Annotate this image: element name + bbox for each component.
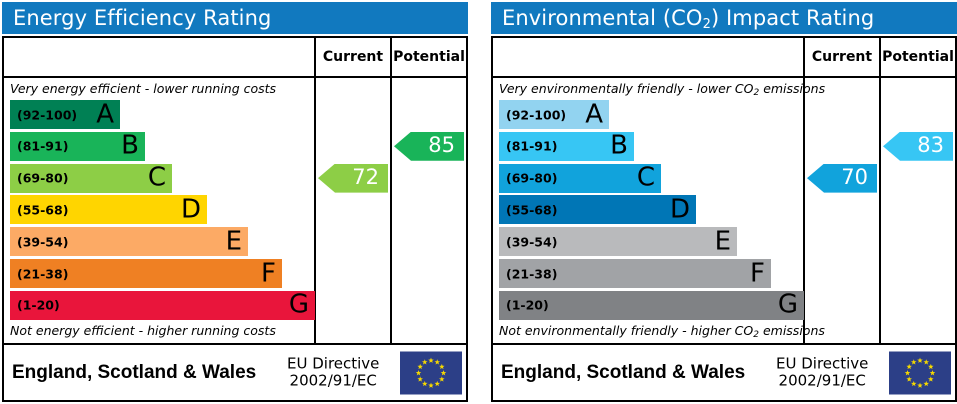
- co2-potential-value: 83: [917, 135, 944, 156]
- co2-current-value: 70: [841, 167, 868, 188]
- co2-band-range-a: (92-100): [506, 107, 566, 122]
- co2-caption-top-subscript: 2: [753, 88, 759, 98]
- eu-flag-icon: [889, 351, 951, 394]
- co2-directive-line2: 2002/91/EC: [779, 372, 866, 390]
- co2-band-letter-c: C: [637, 165, 655, 191]
- energy-band-e: (39-54)E: [10, 227, 248, 256]
- co2-band-letter-f: F: [750, 260, 765, 286]
- co2-band-range-f: (21-38): [506, 266, 557, 281]
- co2-band-d: (55-68)D: [499, 195, 696, 224]
- co2-band-range-b: (81-91): [506, 139, 557, 154]
- energy-footer: England, Scotland & Wales EU Directive 2…: [4, 345, 466, 400]
- co2-caption-bottom-prefix: Not environmentally friendly - higher CO: [499, 323, 753, 338]
- energy-caption-top: Very energy efficient - lower running co…: [10, 81, 276, 96]
- co2-footer: England, Scotland & Wales EU Directive 2…: [493, 345, 955, 400]
- energy-band-letter-a: A: [96, 101, 114, 127]
- energy-band-letter-c: C: [148, 165, 166, 191]
- energy-band-letter-b: B: [121, 133, 139, 159]
- energy-region-label: England, Scotland & Wales: [12, 362, 256, 384]
- co2-band-b: (81-91)B: [499, 132, 634, 161]
- energy-band-range-c: (69-80): [17, 171, 68, 186]
- energy-band-bars: (92-100)A(81-91)B(69-80)C(55-68)D(39-54)…: [10, 100, 310, 322]
- energy-band-g: (1-20)G: [10, 291, 315, 320]
- energy-directive-line2: 2002/91/EC: [290, 372, 377, 390]
- co2-region-label: England, Scotland & Wales: [501, 362, 745, 384]
- co2-band-letter-g: G: [778, 292, 798, 318]
- co2-band-bars: (92-100)A(81-91)B(69-80)C(55-68)D(39-54)…: [499, 100, 799, 322]
- co2-eu-directive-label: EU Directive 2002/91/EC: [776, 355, 868, 390]
- energy-band-letter-d: D: [181, 196, 201, 222]
- co2-band-range-g: (1-20): [506, 298, 549, 313]
- energy-potential-value: 85: [428, 135, 455, 156]
- environmental-impact-rating-panel: Environmental (CO2) Impact Rating Curren…: [491, 0, 957, 404]
- co2-band-range-e: (39-54): [506, 234, 557, 249]
- energy-potential-header: Potential: [392, 38, 466, 76]
- co2-current-header: Current: [805, 38, 879, 76]
- energy-current-rating-arrow: 72: [318, 164, 388, 193]
- energy-panel-title: Energy Efficiency Rating: [13, 6, 271, 30]
- energy-current-header: Current: [316, 38, 390, 76]
- co2-title-subscript: 2: [703, 17, 711, 32]
- epc-rating-sheet: Energy Efficiency Rating Current Potenti…: [0, 0, 957, 404]
- energy-band-range-d: (55-68): [17, 202, 68, 217]
- co2-caption-top: Very environmentally friendly - lower CO…: [499, 81, 825, 96]
- energy-band-letter-e: E: [226, 228, 242, 254]
- energy-potential-rating-arrow: 85: [394, 132, 464, 161]
- co2-band-c: (69-80)C: [499, 164, 661, 193]
- co2-title-prefix: Environmental (CO: [502, 6, 703, 30]
- energy-rating-grid: Current Potential Very energy efficient …: [2, 36, 468, 402]
- co2-caption-bottom-subscript: 2: [753, 330, 759, 340]
- co2-band-g: (1-20)G: [499, 291, 804, 320]
- co2-header-divider: [493, 76, 955, 78]
- co2-caption-top-suffix: emissions: [759, 81, 825, 96]
- co2-caption-bottom-suffix: emissions: [759, 323, 825, 338]
- co2-caption-top-prefix: Very environmentally friendly - lower CO: [499, 81, 753, 96]
- co2-panel-title: Environmental (CO2) Impact Rating: [502, 6, 874, 30]
- energy-band-range-g: (1-20): [17, 298, 60, 313]
- co2-title-suffix: ) Impact Rating: [711, 6, 874, 30]
- co2-band-f: (21-38)F: [499, 259, 771, 288]
- energy-potential-column-divider: [390, 38, 392, 343]
- energy-band-range-e: (39-54): [17, 234, 68, 249]
- energy-caption-bottom: Not energy efficient - higher running co…: [10, 323, 276, 338]
- eu-flag-icon: [400, 351, 462, 394]
- energy-directive-line1: EU Directive: [287, 354, 379, 372]
- co2-current-rating-arrow: 70: [807, 164, 877, 193]
- co2-band-letter-b: B: [610, 133, 628, 159]
- energy-current-value: 72: [352, 167, 379, 188]
- co2-title-bar: Environmental (CO2) Impact Rating: [491, 2, 957, 34]
- energy-efficiency-rating-panel: Energy Efficiency Rating Current Potenti…: [2, 0, 468, 404]
- co2-band-e: (39-54)E: [499, 227, 737, 256]
- energy-band-range-b: (81-91): [17, 139, 68, 154]
- co2-band-a: (92-100)A: [499, 100, 609, 129]
- energy-eu-directive-label: EU Directive 2002/91/EC: [287, 355, 379, 390]
- energy-band-letter-g: G: [289, 292, 309, 318]
- energy-band-d: (55-68)D: [10, 195, 207, 224]
- co2-band-letter-d: D: [670, 196, 690, 222]
- energy-band-range-a: (92-100): [17, 107, 77, 122]
- energy-band-range-f: (21-38): [17, 266, 68, 281]
- co2-band-letter-e: E: [715, 228, 731, 254]
- co2-potential-rating-arrow: 83: [883, 132, 953, 161]
- co2-potential-header: Potential: [881, 38, 955, 76]
- co2-rating-grid: Current Potential Very environmentally f…: [491, 36, 957, 402]
- energy-band-b: (81-91)B: [10, 132, 145, 161]
- co2-band-range-c: (69-80): [506, 171, 557, 186]
- energy-band-f: (21-38)F: [10, 259, 282, 288]
- energy-band-letter-f: F: [261, 260, 276, 286]
- energy-title-bar: Energy Efficiency Rating: [2, 2, 468, 34]
- co2-band-letter-a: A: [585, 101, 603, 127]
- co2-band-range-d: (55-68): [506, 202, 557, 217]
- co2-caption-bottom: Not environmentally friendly - higher CO…: [499, 323, 825, 338]
- co2-directive-line1: EU Directive: [776, 354, 868, 372]
- co2-potential-column-divider: [879, 38, 881, 343]
- energy-header-divider: [4, 76, 466, 78]
- energy-band-a: (92-100)A: [10, 100, 120, 129]
- energy-band-c: (69-80)C: [10, 164, 172, 193]
